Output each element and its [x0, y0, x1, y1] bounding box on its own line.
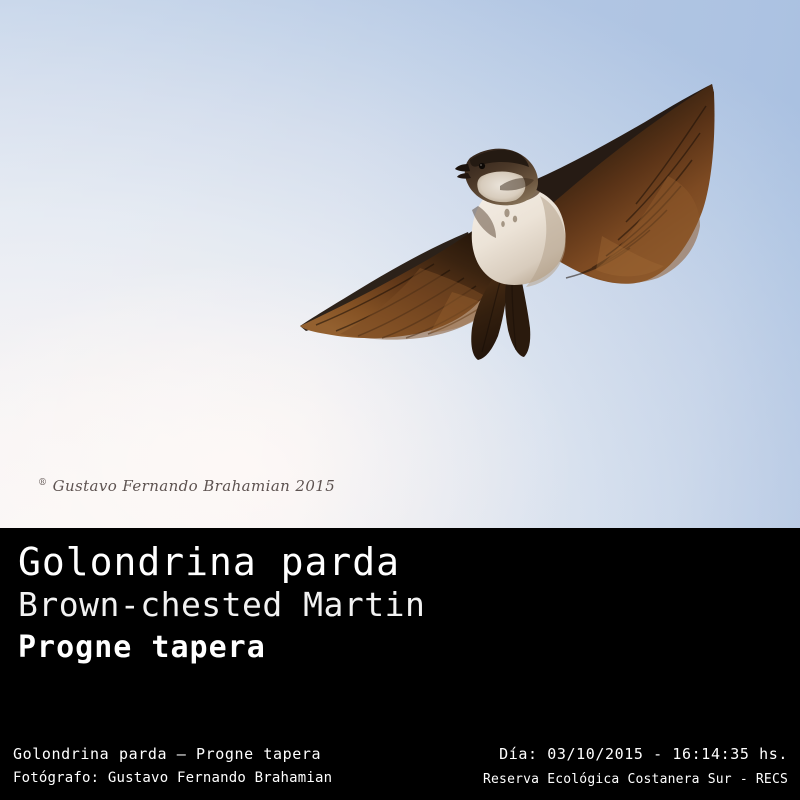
common-name: Golondrina parda: [18, 540, 638, 584]
footer-location-line: Reserva Ecológica Costanera Sur - RECS: [388, 769, 788, 790]
footer-bar: Golondrina parda — Progne tapera Fotógra…: [0, 730, 800, 800]
photograph-area: ® Gustavo Fernando Brahamian 2015: [0, 0, 800, 528]
registered-mark-icon: ®: [38, 478, 47, 488]
title-block: Golondrina parda Brown-chested Martin Pr…: [18, 540, 638, 667]
left-wing: [300, 214, 498, 340]
english-name: Brown-chested Martin: [18, 585, 638, 625]
footer-right-block: Día: 03/10/2015 - 16:14:35 hs. Reserva E…: [388, 744, 788, 790]
footer-date-line: Día: 03/10/2015 - 16:14:35 hs.: [388, 744, 788, 765]
brown-chested-martin-illustration: [0, 0, 800, 528]
scientific-name: Progne tapera: [18, 629, 638, 667]
bill: [455, 164, 470, 171]
bird-photo-card: ® Gustavo Fernando Brahamian 2015 Golond…: [0, 0, 800, 800]
title-banner: Golondrina parda Brown-chested Martin Pr…: [0, 528, 800, 730]
head: [455, 149, 538, 206]
watermark-text: Gustavo Fernando Brahamian 2015: [53, 477, 336, 495]
copyright-watermark: ® Gustavo Fernando Brahamian 2015: [38, 477, 335, 495]
bird-subject: [0, 0, 800, 528]
eye: [479, 163, 485, 169]
